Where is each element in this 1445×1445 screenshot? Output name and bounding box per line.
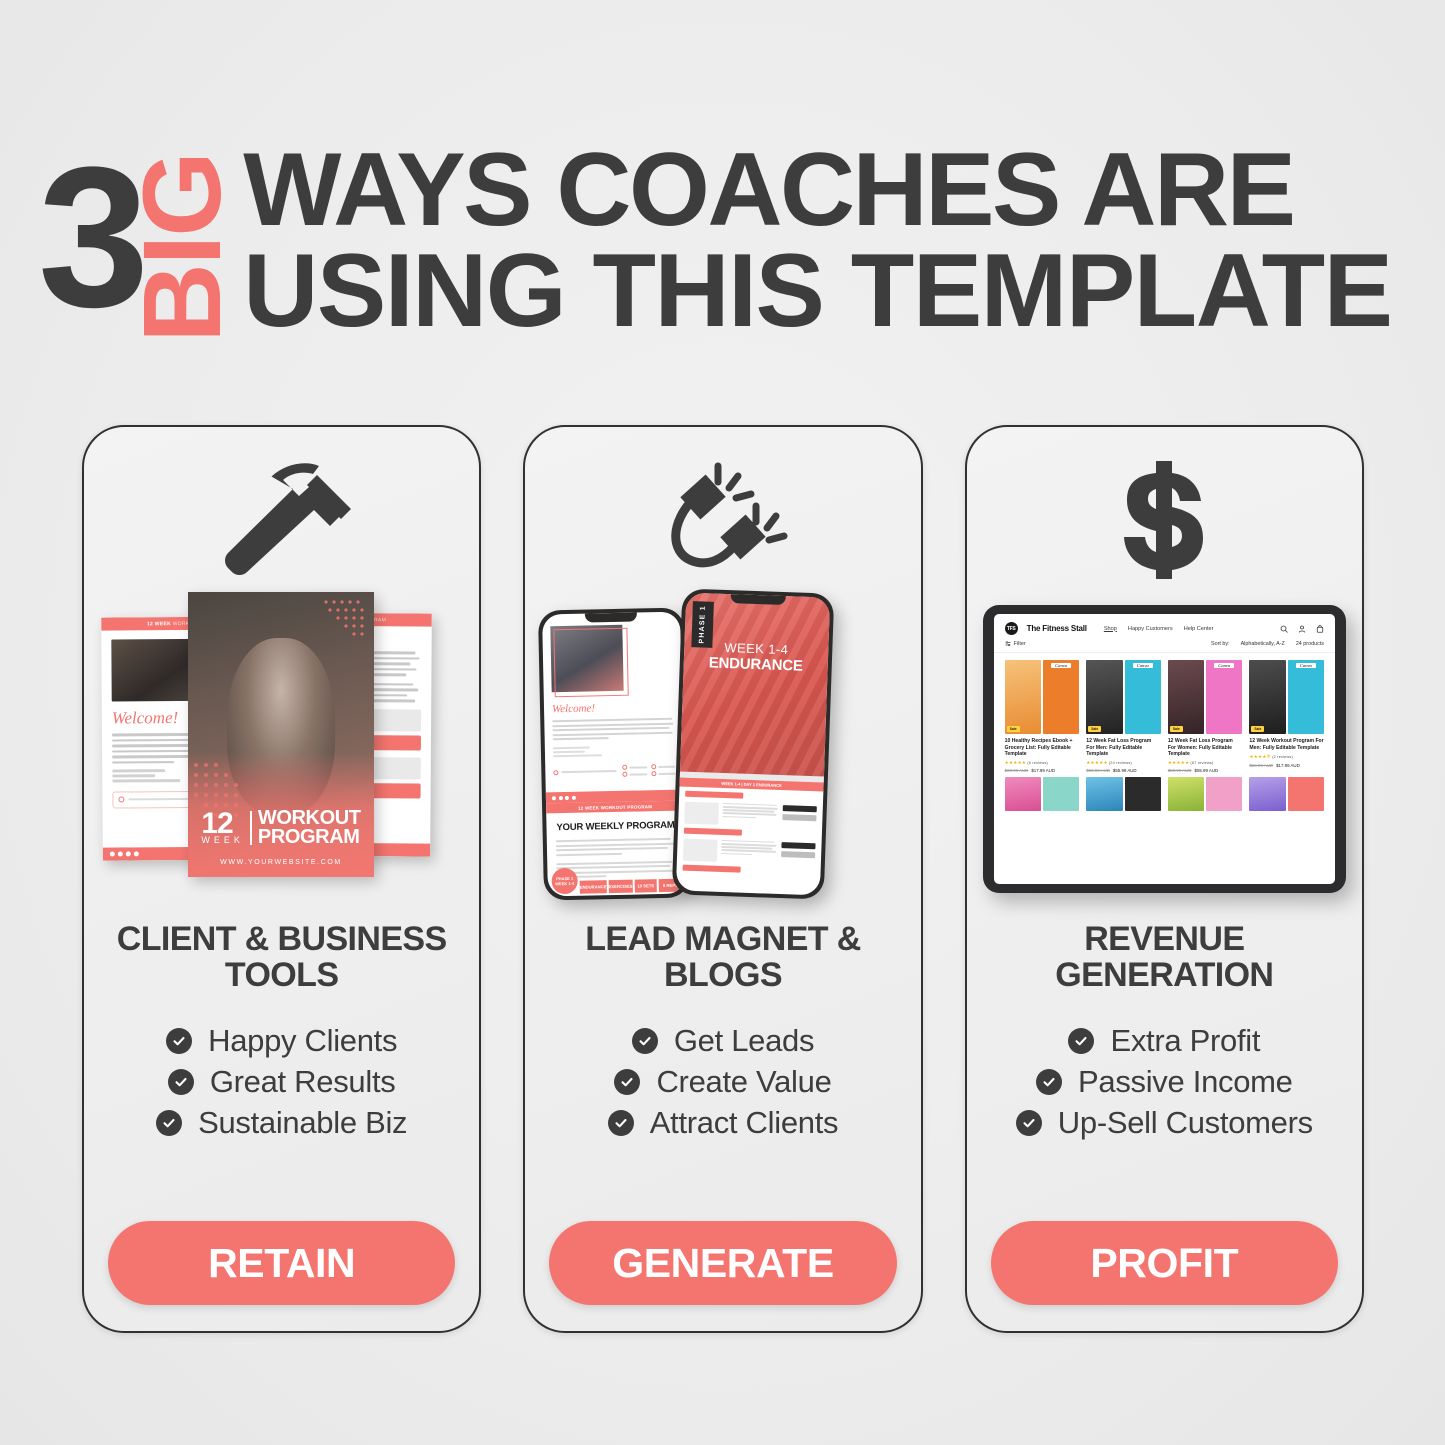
phone-hero-focus: ENDURANCE [684,654,829,676]
phone-contact-row [554,764,676,779]
cta-button-generate[interactable]: GENERATE [549,1221,896,1305]
check-icon [156,1110,182,1136]
exercise-illustration [683,838,718,861]
phone-tab-phase[interactable]: PHASE 1 WEEK 1-4 [552,868,579,895]
product-rating: ★★★★★(6 reviews) [1005,760,1080,766]
card-title-2: LEAD MAGNET & BLOGS [525,921,920,993]
canva-badge: Canva [1214,663,1234,668]
product-thumb-a: Sale [1005,660,1041,734]
bullet-label: Get Leads [674,1023,814,1059]
search-icon[interactable] [1280,625,1288,633]
page-headline: 3 BIG WAYS COACHES ARE USING THIS TEMPLA… [38,140,1408,370]
canva-badge: Canva [1051,663,1071,668]
bullet-label: Passive Income [1078,1064,1293,1100]
phone-tab-endurance[interactable]: ENDURANCE [580,880,607,894]
phone-exercise-row-1 [679,796,824,828]
phone-exercise-row-2 [677,833,822,865]
product-thumb-b: Canva [1043,660,1079,734]
card-bullets-2: Get Leads Create Value Attract Clients [525,1023,920,1141]
dot-pattern-top-right [322,598,368,638]
product-mockup-tablet: TFS The Fitness Stall Shop Happy Custome… [967,587,1362,907]
phone-signoff [553,745,675,758]
product-card[interactable]: Sale Canva 12 Week Fat Loss Program For … [1168,660,1243,773]
bullet-item: Happy Clients [166,1023,397,1059]
product-rating: ★★★★★(24 reviews) [1086,760,1161,766]
product-card[interactable] [1168,777,1243,811]
product-mockup-phones: Welcome! [525,587,920,907]
social-icon [623,772,628,777]
store-logo: TFS [1005,622,1018,635]
product-card[interactable]: Sale Canva 10 Healthy Recipes Ebook + Gr… [1005,660,1080,773]
phone-paragraph [553,718,675,741]
nav-link-shop[interactable]: Shop [1104,626,1117,632]
cover-photo-figure [227,638,335,815]
check-icon [632,1028,658,1054]
store-product-grid: Sale Canva 10 Healthy Recipes Ebook + Gr… [994,653,1335,773]
filter-label: Filter [1014,641,1026,647]
bullet-label: Attract Clients [650,1105,838,1141]
phone-tab-bar[interactable]: PHASE 1 WEEK 1-4 ENDURANCE EXERCISES 10 … [552,866,683,895]
tablet-device: TFS The Fitness Stall Shop Happy Custome… [983,605,1346,893]
cta-button-retain[interactable]: RETAIN [108,1221,455,1305]
filter-button[interactable]: Filter [1005,641,1026,647]
bullet-label: Great Results [210,1064,396,1100]
product-thumb-a: Sale [1086,660,1122,734]
cover-duration: 12 WEEK [201,811,244,844]
store-filter-bar: Filter Sort by: Alphabetically, A-Z 24 p… [994,641,1335,653]
headline-line-1: WAYS COACHES ARE [243,140,1391,241]
sale-badge: Sale [1088,726,1101,732]
cover-website-url: WWW.YOURWEBSITE.COM [188,859,374,866]
bullet-label: Sustainable Biz [198,1105,407,1141]
phone-tab-exercises[interactable]: EXERCISES [609,880,633,893]
email-icon [118,796,124,802]
phone-hero: PHASE 1 WEEK 1-4 ENDURANCE [680,593,830,777]
exercise-illustration [685,801,720,824]
document-cover-workout-program: 12 WEEK WORKOUT PROGRAM WWW.YOURWEBSITE.… [188,592,374,877]
product-card[interactable]: Sale Canva 12 Week Fat Loss Program For … [1086,660,1161,773]
sale-badge: Sale [1007,726,1020,732]
product-rating: ★★★★★(67 reviews) [1168,760,1243,766]
bullet-item: Sustainable Biz [156,1105,407,1141]
cart-icon[interactable] [1316,625,1324,633]
bullet-label: Create Value [656,1064,831,1100]
phone-mockup-endurance-phase: PHASE 1 WEEK 1-4 ENDURANCE WEEK 1-4 | DA… [672,588,835,899]
dollar-icon [1119,453,1209,585]
phone-notch [585,612,638,622]
phone-photo [551,625,624,692]
hammer-icon [207,453,357,585]
cover-name: WORKOUT PROGRAM [258,809,361,847]
product-thumb-a: Sale [1249,660,1285,734]
sort-label: Sort by: [1211,641,1230,647]
product-count: 24 products [1296,641,1324,647]
bullet-label: Up-Sell Customers [1058,1105,1313,1141]
bullet-item: Get Leads [632,1023,814,1059]
sale-badge: Sale [1170,726,1183,732]
product-rating: ★★★★⯪(2 reviews) [1249,753,1324,761]
benefit-cards: 12 WEEK WORKOUT PROGRAM Welcome! [82,425,1364,1333]
store-navbar: TFS The Fitness Stall Shop Happy Custome… [994,614,1335,641]
check-icon [1068,1028,1094,1054]
product-price: $28.99 AUD$17.99 AUD [1249,763,1324,768]
headline-line-2: USING THIS TEMPLATE [243,241,1391,342]
sort-select[interactable]: Alphabetically, A-Z [1241,641,1285,647]
phone-exercise-tag-3 [683,864,741,872]
email-icon [554,770,559,775]
nav-link-happy-customers[interactable]: Happy Customers [1128,626,1173,632]
magnet-icon [658,453,788,585]
phone-tab-sets[interactable]: 10 SETS [635,879,658,892]
card-lead-magnet-blogs[interactable]: Welcome! [523,425,922,1333]
cover-divider [250,811,252,845]
cover-title-block: 12 WEEK WORKOUT PROGRAM [188,809,374,847]
product-card[interactable]: Sale Canva 12 Week Workout Program For M… [1249,660,1324,773]
card-bullets-1: Happy Clients Great Results Sustainable … [84,1023,479,1141]
bullet-item: Great Results [168,1064,396,1100]
bullet-item: Extra Profit [1068,1023,1260,1059]
product-card[interactable] [1086,777,1161,811]
bullet-label: Happy Clients [208,1023,397,1059]
phone-hero-title: WEEK 1-4 ENDURANCE [684,639,829,676]
filter-icon [1005,641,1011,647]
product-price: $89.99 AUD$55.99 AUD [1168,768,1243,773]
product-thumb-b: Canva [1206,660,1242,734]
phone-heading-weekly-program: YOUR WEEKLY PROGRAM [547,811,686,841]
phone-mockup-weekly-program: Welcome! [538,608,690,901]
phone-body-paragraph [547,838,685,856]
sale-badge: Sale [1251,726,1264,732]
product-title: 10 Healthy Recipes Ebook + Grocery List:… [1005,738,1080,758]
store-product-grid-row2 [994,773,1335,811]
canva-badge: Canva [1133,663,1153,668]
social-icon [623,765,628,770]
phone-welcome-script: Welcome! [552,701,674,716]
product-title: 12 Week Workout Program For Men: Fully E… [1249,738,1324,751]
check-icon [1016,1110,1042,1136]
headline-accent-word: BIG [128,153,238,343]
product-card[interactable] [1249,777,1324,811]
card-title-1: CLIENT & BUSINESS TOOLS [84,921,479,993]
store-brand-name: The Fitness Stall [1027,624,1087,633]
product-card[interactable] [1005,777,1080,811]
product-title: 12 Week Fat Loss Program For Women: Full… [1168,738,1243,758]
social-icon [651,771,656,776]
check-icon [614,1069,640,1095]
cta-button-profit[interactable]: PROFIT [991,1221,1338,1305]
check-icon [608,1110,634,1136]
product-mockup-documents: 12 WEEK WORKOUT PROGRAM Welcome! [84,587,479,907]
cover-artwork: 12 WEEK WORKOUT PROGRAM WWW.YOURWEBSITE.… [188,592,374,877]
canva-badge: Canva [1296,663,1316,668]
headline-accent-word-wrap: BIG [137,150,229,346]
bullet-item: Up-Sell Customers [1016,1105,1313,1141]
card-title-3: REVENUE GENERATION [967,921,1362,993]
bullet-item: Passive Income [1036,1064,1293,1100]
bullet-item: Create Value [614,1064,831,1100]
check-icon [168,1069,194,1095]
bullet-label: Extra Profit [1110,1023,1260,1059]
card-revenue-generation[interactable]: TFS The Fitness Stall Shop Happy Custome… [965,425,1364,1333]
product-thumb-b: Canva [1125,660,1161,734]
check-icon [1036,1069,1062,1095]
product-price: $28.99 AUD$17.99 AUD [1005,768,1080,773]
account-icon[interactable] [1298,625,1306,633]
card-bullets-3: Extra Profit Passive Income Up-Sell Cust… [967,1023,1362,1141]
social-icon [651,764,656,769]
phone-notch [731,594,786,605]
product-price: $89.99 AUD$55.99 AUD [1086,768,1161,773]
card-client-business-tools[interactable]: 12 WEEK WORKOUT PROGRAM Welcome! [82,425,481,1333]
product-thumb-b: Canva [1288,660,1324,734]
bullet-item: Attract Clients [608,1105,838,1141]
nav-link-help-center[interactable]: Help Center [1184,626,1214,632]
check-icon [166,1028,192,1054]
product-thumb-a: Sale [1168,660,1204,734]
product-title: 12 Week Fat Loss Program For Men: Fully … [1086,738,1161,758]
